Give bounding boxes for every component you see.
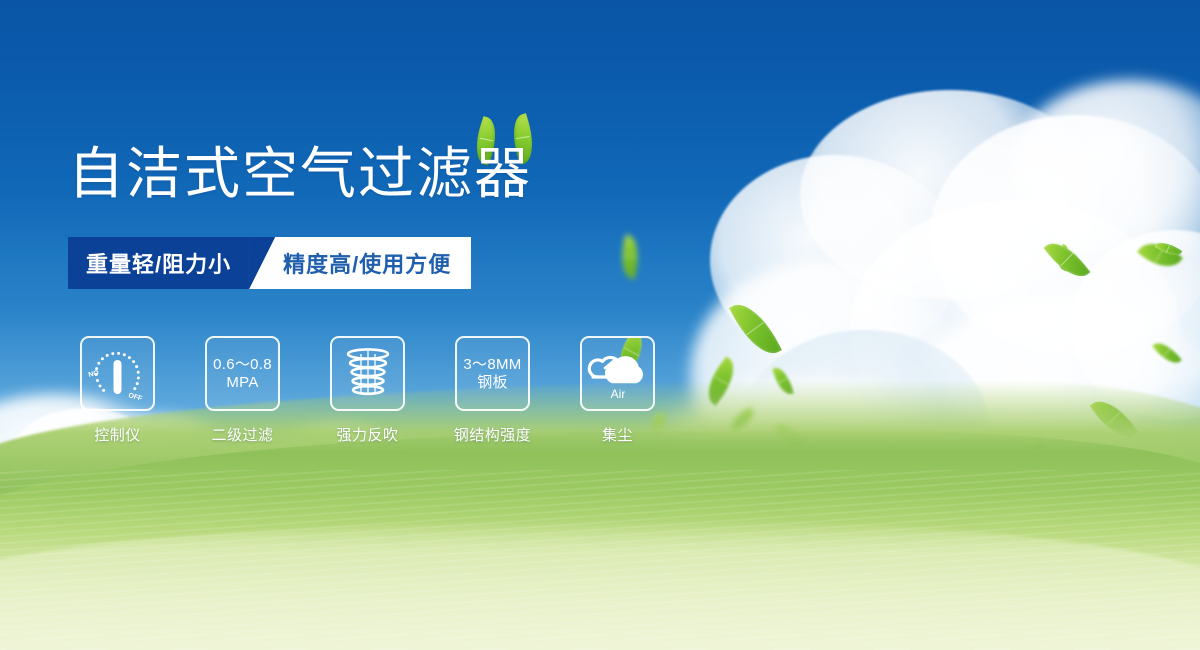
feature-item-blowback[interactable]: 强力反吹 [330, 336, 405, 445]
subtitle-ribbon: 重量轻/阻力小 精度高/使用方便 [68, 237, 471, 289]
feature-label: 集尘 [602, 424, 633, 445]
pressure-unit: MPA [213, 374, 272, 392]
feature-item-dust-collection[interactable]: Air 集尘 [580, 336, 655, 445]
feature-item-steel[interactable]: 3〜8MM 钢板 钢结构强度 [455, 336, 530, 445]
feature-icon-box [330, 336, 405, 411]
coil-blow-icon [337, 345, 399, 403]
air-label: Air [610, 387, 625, 401]
page-title: 自洁式空气过滤器 [68, 143, 532, 206]
feature-label: 控制仪 [94, 424, 141, 445]
pressure-range: 0.6〜0.8 [213, 356, 272, 373]
feature-icon-box: 3〜8MM 钢板 [455, 336, 530, 411]
feature-icon-box: Air [580, 336, 655, 411]
feature-list: NO OFF 控制仪 0.6〜0.8 MPA 二级过滤 [80, 336, 655, 445]
feature-icon-box: NO OFF [80, 336, 155, 411]
svg-text:NO: NO [87, 369, 99, 378]
feature-label: 钢结构强度 [454, 424, 532, 445]
svg-text:OFF: OFF [127, 392, 143, 403]
pressure-icon: 0.6〜0.8 MPA [213, 356, 272, 391]
steel-plate-icon: 3〜8MM 钢板 [463, 356, 521, 391]
feature-label: 二级过滤 [211, 424, 273, 445]
gauge-icon: NO OFF [84, 344, 152, 404]
feature-label: 强力反吹 [336, 424, 398, 445]
steel-material: 钢板 [463, 374, 521, 392]
subtitle-right: 精度高/使用方便 [249, 237, 471, 289]
steel-thickness: 3〜8MM [463, 356, 521, 373]
feature-icon-box: 0.6〜0.8 MPA [205, 336, 280, 411]
cloud-air-icon: Air [585, 344, 651, 404]
subtitle-left: 重量轻/阻力小 [68, 237, 249, 289]
feature-item-controller[interactable]: NO OFF 控制仪 [80, 336, 155, 445]
feature-item-filtration[interactable]: 0.6〜0.8 MPA 二级过滤 [205, 336, 280, 445]
air-filter-banner: 自洁式空气过滤器 重量轻/阻力小 精度高/使用方便 [0, 0, 1200, 650]
